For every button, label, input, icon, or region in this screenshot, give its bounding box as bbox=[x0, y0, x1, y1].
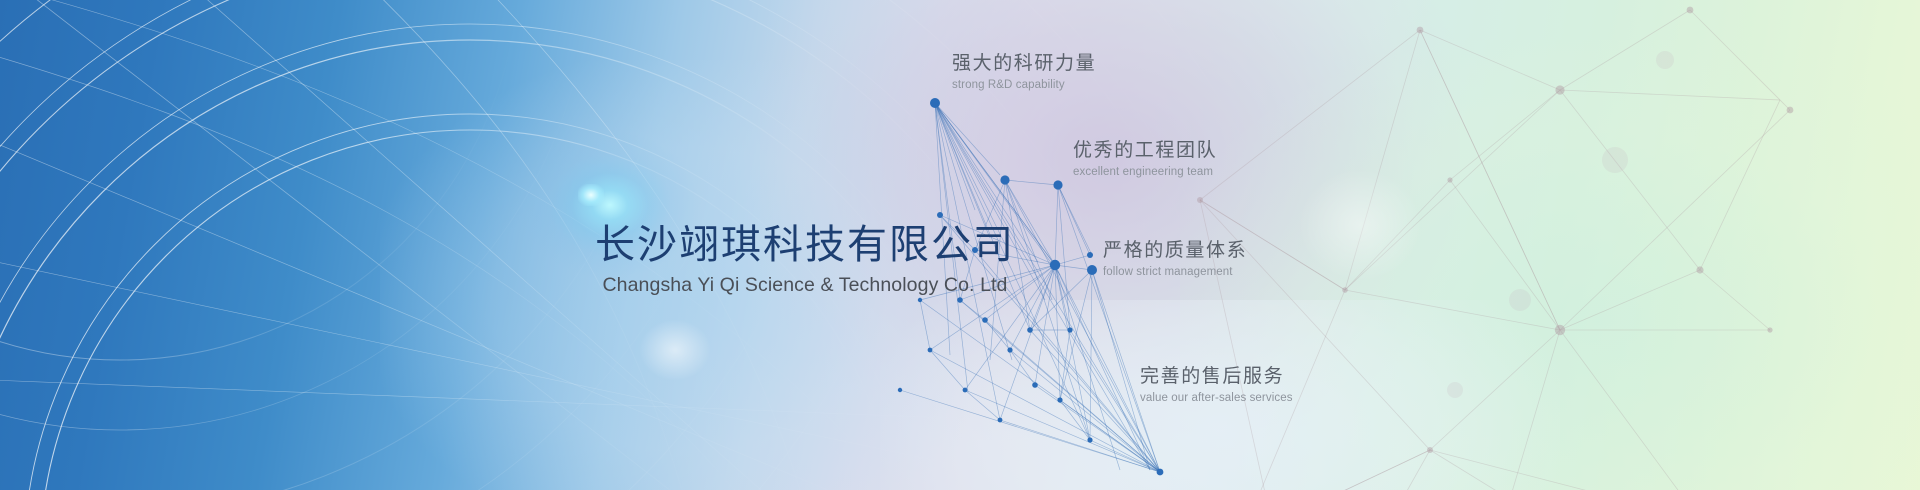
hero-banner: 长沙翊琪科技有限公司 Changsha Yi Qi Science & Tech… bbox=[0, 0, 1920, 490]
mint-wash bbox=[1180, 40, 1920, 490]
company-name-cn: 长沙翊琪科技有限公司 bbox=[595, 222, 1015, 268]
feature-label-cn: 优秀的工程团队 bbox=[1073, 139, 1217, 163]
feature-label-en: strong R&D capability bbox=[952, 79, 1096, 91]
feature-item-quality: 严格的质量体系 follow strict management bbox=[1103, 239, 1247, 278]
spark-glow-right bbox=[1300, 170, 1420, 280]
feature-label-en: excellent engineering team bbox=[1073, 166, 1217, 178]
feature-label-cn: 强大的科研力量 bbox=[952, 52, 1096, 76]
feature-item-rd: 强大的科研力量 strong R&D capability bbox=[952, 52, 1096, 91]
violet-wash bbox=[760, 0, 1460, 440]
company-name-en: Changsha Yi Qi Science & Technology Co. … bbox=[595, 274, 1015, 297]
feature-item-service: 完善的售后服务 value our after-sales services bbox=[1140, 365, 1293, 404]
feature-label-cn: 严格的质量体系 bbox=[1103, 239, 1247, 263]
feature-label-en: follow strict management bbox=[1103, 266, 1247, 278]
spark-glow-left bbox=[640, 320, 710, 380]
feature-label-cn: 完善的售后服务 bbox=[1140, 365, 1293, 389]
feature-label-en: value our after-sales services bbox=[1140, 392, 1293, 404]
lens-flare-core bbox=[578, 184, 604, 206]
company-title-block: 长沙翊琪科技有限公司 Changsha Yi Qi Science & Tech… bbox=[595, 222, 1015, 297]
feature-item-team: 优秀的工程团队 excellent engineering team bbox=[1073, 139, 1217, 178]
